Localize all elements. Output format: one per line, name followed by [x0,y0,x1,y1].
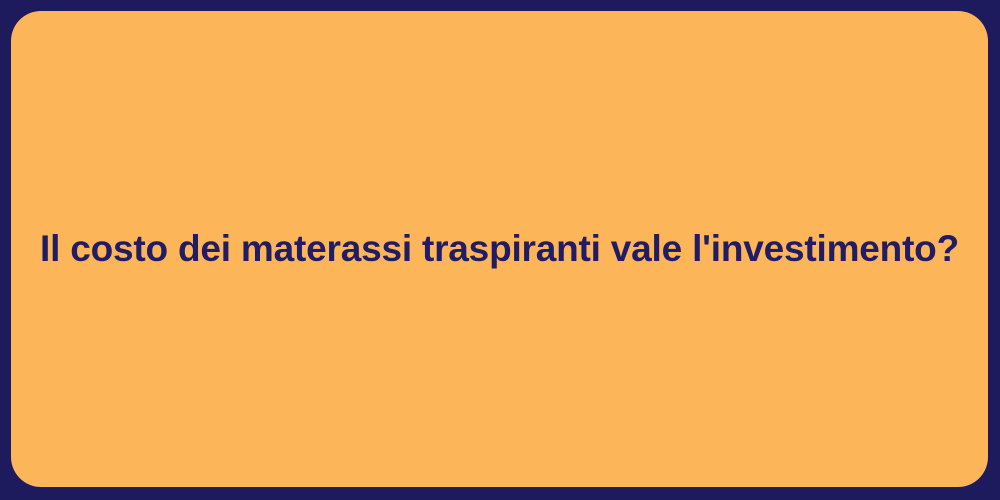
page-title: Il costo dei materassi traspiranti vale … [16,226,983,272]
headline-card: Il costo dei materassi traspiranti vale … [11,11,988,487]
page-background: Il costo dei materassi traspiranti vale … [0,0,1000,500]
